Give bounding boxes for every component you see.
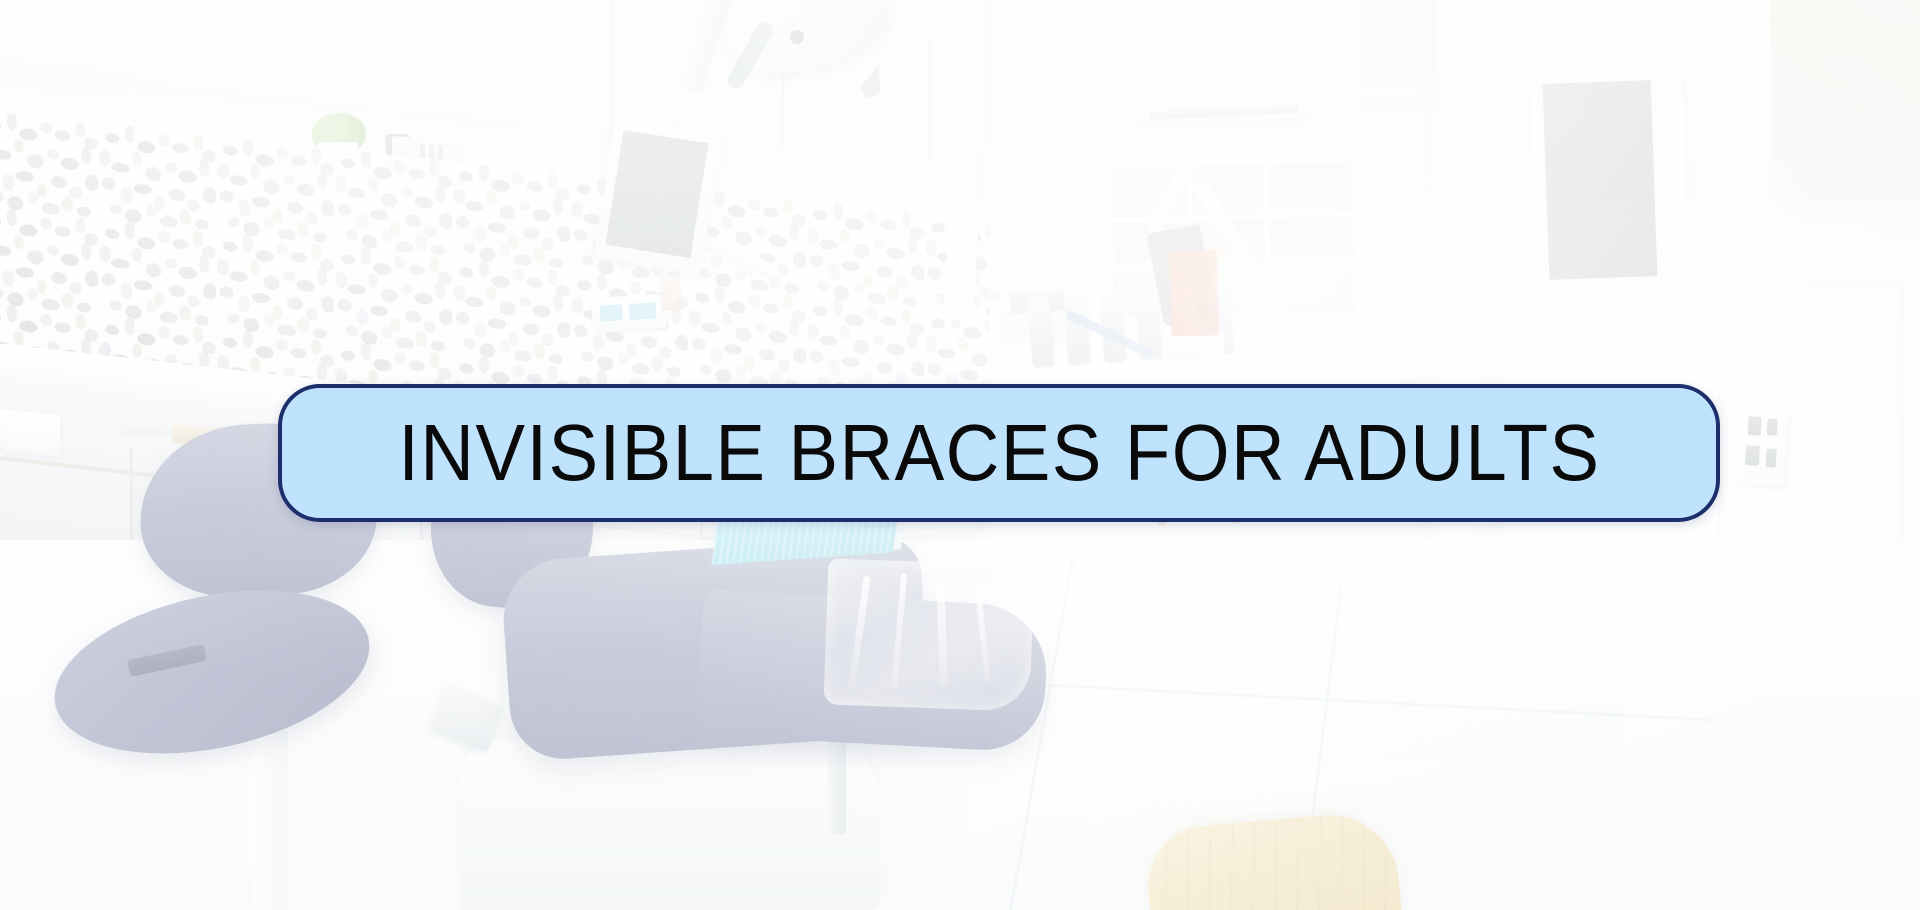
light-switch-plate[interactable] xyxy=(1738,407,1789,486)
monitor-screen xyxy=(605,130,708,258)
screenshot-canvas: INVISIBLE BRACES FOR ADULTS xyxy=(0,0,1920,910)
headline-banner: INVISIBLE BRACES FOR ADULTS xyxy=(278,384,1720,522)
wall-poster xyxy=(659,275,683,310)
instrument-hoses xyxy=(1028,280,1263,372)
tissue-box-label xyxy=(600,303,657,322)
operating-light-lens xyxy=(790,30,804,44)
resin-printer-hood xyxy=(1169,249,1219,336)
stool-column xyxy=(252,730,288,910)
headline-text: INVISIBLE BRACES FOR ADULTS xyxy=(398,413,1600,493)
patient-chair-base xyxy=(460,740,880,910)
patient-chair-plastic-cover xyxy=(824,558,1035,711)
counter-item xyxy=(0,409,60,457)
dark-display-panel xyxy=(1543,80,1658,280)
